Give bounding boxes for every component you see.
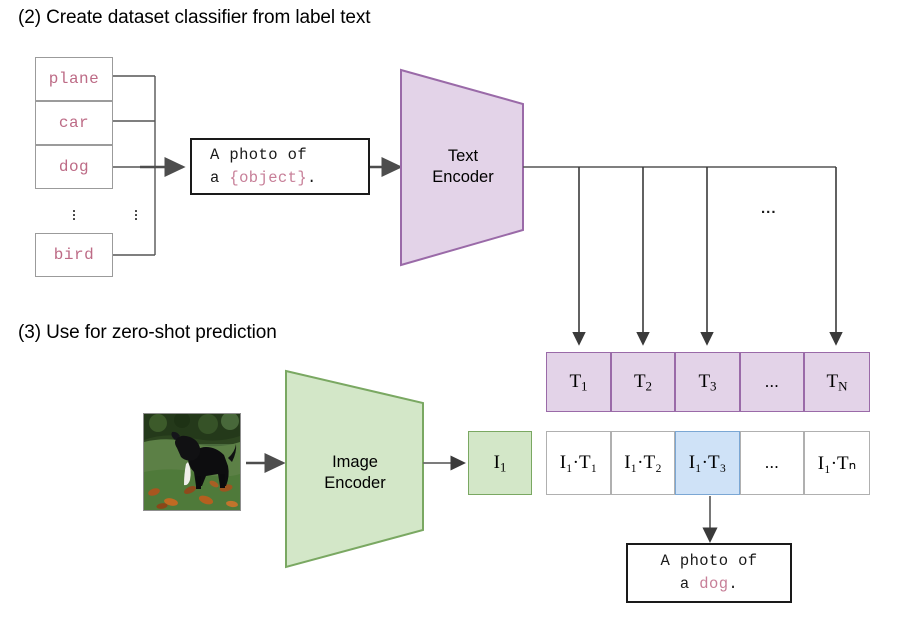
label-box-car[interactable]: car [35,101,113,145]
image-embedding-subscript: 1 [500,460,507,475]
text-embedding-TN[interactable]: TN [804,352,870,412]
prompt-template-box[interactable]: A photo of a {object}. [190,138,370,195]
text-embedding-ellipsis: ... [740,352,804,412]
image-embedding-symbol: I1 [494,452,507,474]
similarity-I1T1[interactable]: I₁·T₁ [546,431,611,495]
section-heading-3: (3) Use for zero-shot prediction [18,322,277,344]
similarity-I1T3[interactable]: I₁·T₃ [675,431,740,495]
prompt-line-2: a {object}. [210,167,368,190]
prompt-line2-suffix: . [307,169,317,187]
text-embedding-T3[interactable]: T3 [675,352,740,412]
text-encoder-branch-arrows [579,167,836,344]
similarity-I1TN[interactable]: I₁·Tₙ [804,431,870,495]
prediction-line2-prefix: a [680,575,699,593]
label-list-vertical-ellipsis-left: ... [62,205,86,217]
prediction-output-box[interactable]: A photo of a dog. [626,543,792,603]
label-list-wiring [112,76,182,255]
section-heading-2: (2) Create dataset classifier from label… [18,7,370,29]
text-encoder-label-line1: Text [431,146,495,167]
similarity-ellipsis: ... [740,431,804,495]
similarity-I1T2[interactable]: I₁·T₂ [611,431,675,495]
label-box-dog[interactable]: dog [35,145,113,189]
label-list-vertical-ellipsis-right: ... [124,205,148,217]
text-embedding-T2[interactable]: T2 [611,352,675,412]
text-encoder-label-line2: Encoder [431,167,495,188]
branch-ellipsis: ... [761,200,777,217]
prompt-object-slot: {object} [229,169,307,187]
prediction-line-2: a dog. [680,573,738,596]
input-photo-dog[interactable] [143,413,241,511]
prompt-line-1: A photo of [210,144,368,167]
prompt-line2-prefix: a [210,169,229,187]
label-box-bird[interactable]: bird [35,233,113,277]
image-encoder-label-line1: Image [316,452,394,473]
label-box-plane[interactable]: plane [35,57,113,101]
diagram-canvas [0,0,906,624]
image-embedding-I1[interactable]: I1 [468,431,532,495]
prediction-line2-suffix: . [728,575,738,593]
text-embedding-T1[interactable]: T1 [546,352,611,412]
text-encoder-label: Text Encoder [431,146,495,188]
image-encoder-label: Image Encoder [316,452,394,494]
prediction-line-1: A photo of [660,550,757,573]
image-encoder-label-line2: Encoder [316,473,394,494]
photo-artwork [144,414,240,510]
prediction-class-name: dog [699,575,728,593]
